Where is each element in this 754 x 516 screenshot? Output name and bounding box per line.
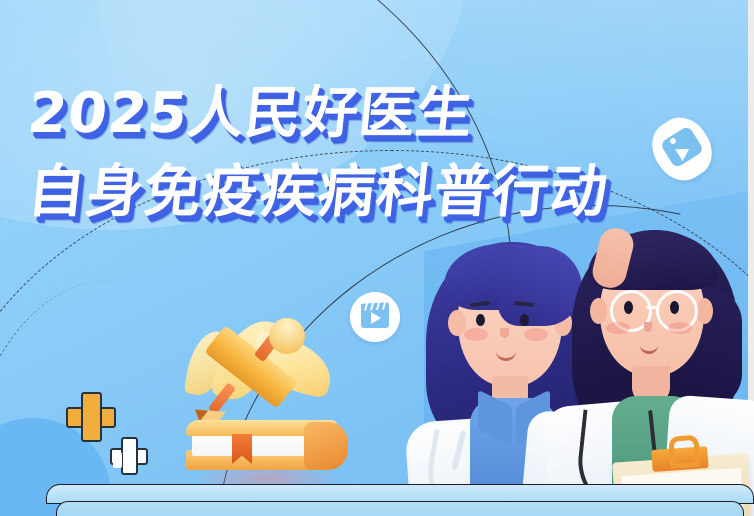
book-illustration [186, 420, 346, 476]
page-title: 2025人民好医生 自身免疫疾病科普行动 [28, 76, 608, 230]
desk-bar-body [56, 501, 744, 516]
desk-bar [46, 484, 754, 516]
photo-image-icon [654, 118, 710, 180]
play-icon [371, 312, 381, 324]
title-line-1: 2025人民好医生 [24, 76, 612, 152]
video-clapperboard-icon [350, 292, 400, 342]
plus-icon-orange [66, 392, 112, 438]
campaign-poster: 2025人民好医生 自身免疫疾病科普行动 [0, 0, 754, 516]
video-icon-clapper [361, 302, 389, 310]
decorative-tick [113, 452, 122, 468]
title-line-2: 自身免疫疾病科普行动 [24, 154, 612, 230]
right-edge-strip [748, 0, 754, 516]
book-spine [304, 422, 348, 470]
